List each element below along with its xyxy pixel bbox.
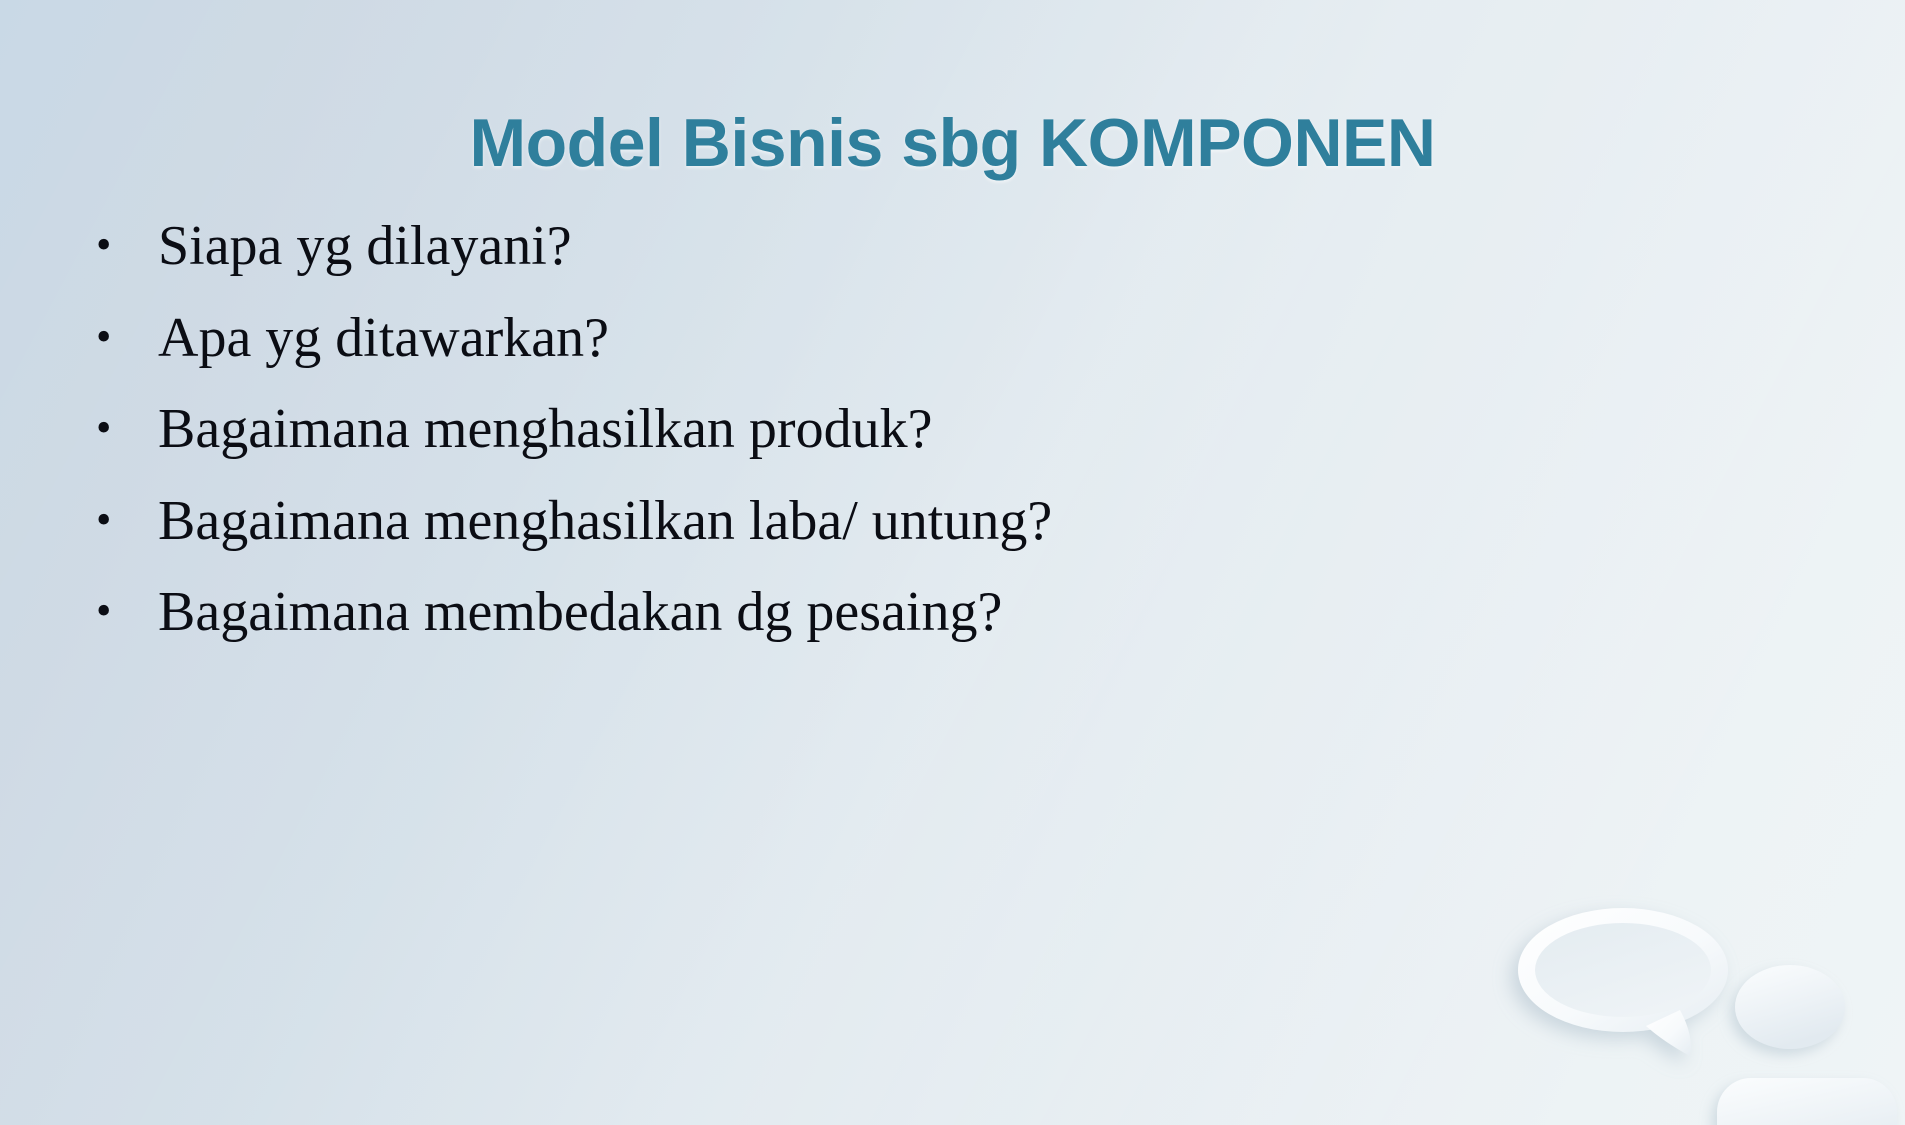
bullet-list: • Siapa yg dilayani? • Apa yg ditawarkan… xyxy=(96,214,1785,672)
bullet-text: Bagaimana membedakan dg pesaing? xyxy=(158,580,1785,646)
body-rounded-rect-icon xyxy=(1717,1078,1897,1125)
bullet-point-icon: • xyxy=(96,306,158,368)
list-item: • Siapa yg dilayani? xyxy=(96,214,1785,280)
bullet-text: Siapa yg dilayani? xyxy=(158,214,1785,280)
list-item: • Apa yg ditawarkan? xyxy=(96,306,1785,372)
bullet-point-icon: • xyxy=(96,489,158,551)
bullet-point-icon: • xyxy=(96,397,158,459)
speech-bubble-icon xyxy=(1518,908,1728,1056)
decorative-graphic xyxy=(1475,795,1905,1125)
page-title: Model Bisnis sbg KOMPONEN xyxy=(0,108,1905,179)
slide-canvas: Model Bisnis sbg KOMPONEN • Siapa yg dil… xyxy=(0,0,1905,1125)
bullet-text: Apa yg ditawarkan? xyxy=(158,306,1785,372)
list-item: • Bagaimana menghasilkan produk? xyxy=(96,397,1785,463)
list-item: • Bagaimana membedakan dg pesaing? xyxy=(96,580,1785,646)
bullet-point-icon: • xyxy=(96,214,158,276)
list-item: • Bagaimana menghasilkan laba/ untung? xyxy=(96,489,1785,555)
head-ellipse-icon xyxy=(1735,965,1845,1049)
bullet-text: Bagaimana menghasilkan laba/ untung? xyxy=(158,489,1785,555)
bullet-point-icon: • xyxy=(96,580,158,642)
bullet-text: Bagaimana menghasilkan produk? xyxy=(158,397,1785,463)
